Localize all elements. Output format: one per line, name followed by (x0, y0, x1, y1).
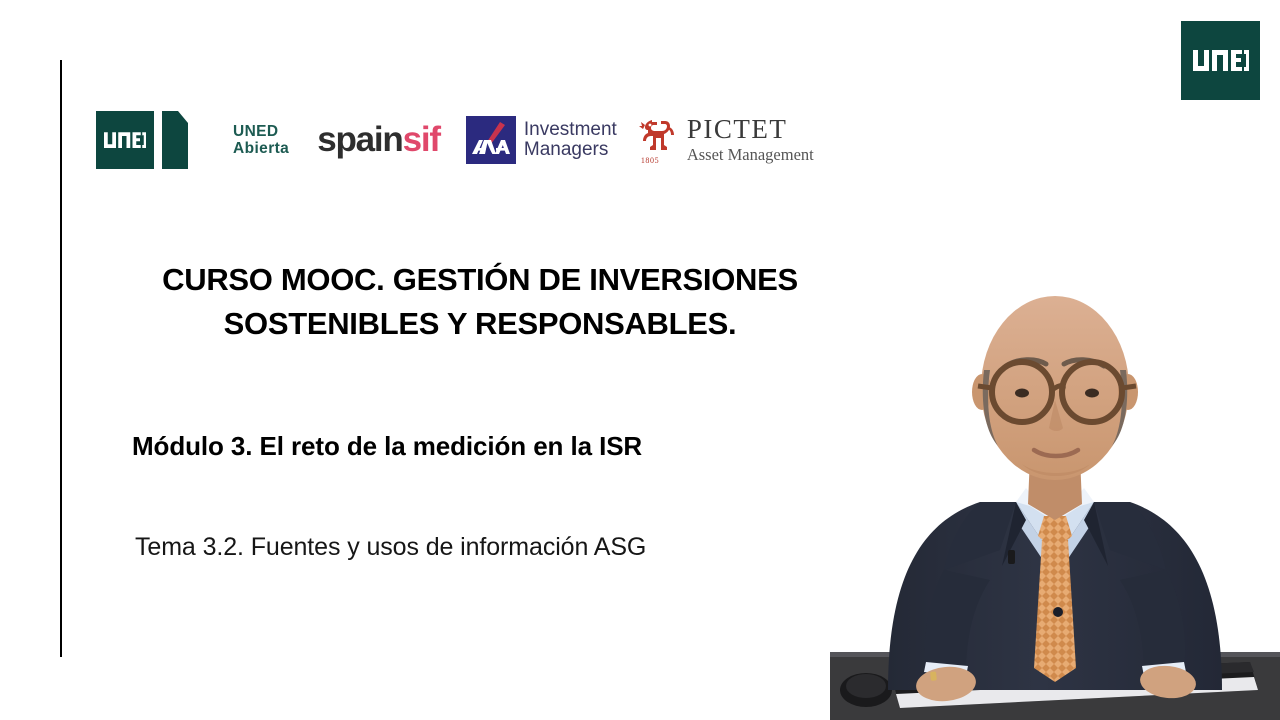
axa-im-label: Investment Managers (524, 120, 617, 160)
pictet-label: PICTET Asset Management (687, 116, 814, 164)
logo-pictet-asset-management: 1805 PICTET Asset Management (639, 114, 814, 166)
axa-mark-icon (466, 116, 516, 164)
uned-abierta-line2: Abierta (233, 140, 289, 157)
logo-spainsif: spainsif (317, 122, 440, 158)
module-heading: Módulo 3. El reto de la medición en la I… (132, 428, 642, 464)
course-title-line1: CURSO MOOC. GESTIÓN DE INVERSIONES (60, 258, 900, 302)
axa-im-line1: Investment (524, 120, 617, 140)
logo-axa-investment-managers: Investment Managers (466, 116, 617, 164)
logo-uned-abierta: UNED Abierta (96, 111, 289, 169)
presenter-figure (830, 220, 1280, 720)
pictet-name: PICTET (687, 116, 814, 143)
open-page-shape-icon (178, 111, 222, 169)
axa-im-line2: Managers (524, 140, 617, 160)
uned-wordmark-icon (104, 132, 146, 149)
spainsif-part1: spain (317, 120, 402, 159)
pictet-subtitle: Asset Management (687, 145, 814, 164)
left-vertical-divider (60, 60, 62, 657)
course-title-line2: SOSTENIBLES Y RESPONSABLES. (60, 302, 900, 346)
spainsif-part2: sif (403, 120, 440, 159)
lion-rampant-icon (639, 114, 683, 158)
uned-wordmark-icon (1193, 50, 1249, 72)
uned-square-icon (96, 111, 154, 169)
slide-canvas: UNED Abierta spainsif (0, 0, 1280, 720)
pictet-lion-icon: 1805 (639, 114, 683, 166)
uned-abierta-label: UNED Abierta (233, 123, 289, 157)
uned-abierta-line1: UNED (233, 123, 289, 140)
course-title: CURSO MOOC. GESTIÓN DE INVERSIONES SOSTE… (60, 258, 900, 346)
pictet-year-label: 1805 (641, 156, 659, 165)
axa-square-icon (466, 116, 516, 164)
partner-logo-strip: UNED Abierta spainsif (96, 108, 814, 172)
uned-logo-badge (1181, 21, 1260, 100)
topic-heading: Tema 3.2. Fuentes y usos de información … (135, 529, 646, 565)
uned-open-page-icon (162, 111, 222, 169)
presenter-illustration-icon (830, 220, 1280, 720)
